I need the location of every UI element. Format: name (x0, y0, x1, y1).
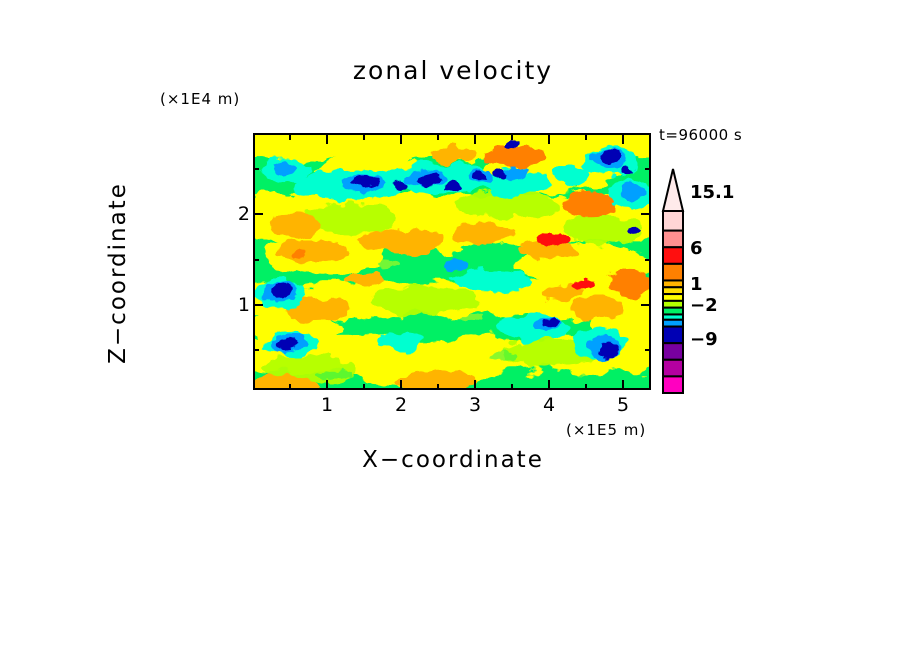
x-axis-title: X−coordinate (253, 447, 653, 473)
y-axis-title: Z−coordinate (105, 143, 131, 403)
colorbar-band-4 (663, 280, 683, 287)
x-tick-label-3: 3 (460, 394, 490, 416)
colorbar-label-max: 15.1 (690, 182, 734, 203)
y-tick-label-1: 1 (224, 294, 250, 316)
colorbar-label-1: 1 (690, 274, 703, 295)
figure-canvas: zonal velocity (×1E4 m) t=96000 s (0, 0, 904, 654)
colorbar-band-11 (663, 327, 683, 344)
page-title: zonal velocity (253, 56, 653, 85)
colorbar-band-6 (663, 294, 683, 301)
colorbar-arrow-cap (663, 169, 683, 211)
x-tick-label-1: 1 (312, 394, 342, 416)
colorbar-band-0 (663, 211, 683, 231)
x-tick-label-4: 4 (534, 394, 564, 416)
colorbar-label-6: 6 (690, 238, 703, 259)
colorbar-swatches (661, 167, 685, 395)
colorbar-label-neg2: −2 (690, 295, 718, 316)
colorbar-band-14 (663, 376, 683, 393)
colorbar-band-5 (663, 287, 683, 294)
colorbar-band-12 (663, 343, 683, 360)
y-tick-label-2: 2 (224, 203, 250, 225)
colorbar-label-neg9: −9 (690, 329, 718, 350)
colorbar-band-1 (663, 231, 683, 248)
colorbar-band-2 (663, 247, 683, 264)
colorbar-band-10 (663, 320, 683, 327)
colorbar-band-13 (663, 360, 683, 377)
colorbar (661, 167, 685, 395)
colorbar-band-3 (663, 264, 683, 281)
time-annotation: t=96000 s (659, 126, 742, 144)
colorbar-band-8 (663, 308, 683, 315)
contour-plot-area (253, 133, 651, 390)
colorbar-band-7 (663, 301, 683, 308)
x-tick-label-5: 5 (608, 394, 638, 416)
x-tick-label-2: 2 (386, 394, 416, 416)
x-axis-unit-label: (×1E5 m) (566, 421, 646, 439)
velocity-field-image (255, 135, 649, 388)
y-axis-unit-label: (×1E4 m) (160, 90, 240, 108)
